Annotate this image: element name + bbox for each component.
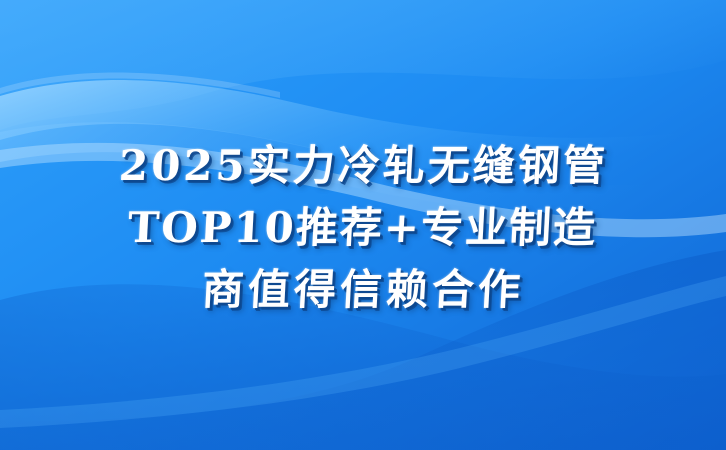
headline-line-1: 2025实力冷轧无缝钢管 xyxy=(117,135,609,197)
headline-line-2: TOP10推荐+专业制造 xyxy=(127,197,599,259)
headline-line-3: 商值得信赖合作 xyxy=(200,259,525,321)
headline-block: 2025实力冷轧无缝钢管 TOP10推荐+专业制造 商值得信赖合作 xyxy=(0,0,726,450)
promo-banner: 2025实力冷轧无缝钢管 TOP10推荐+专业制造 商值得信赖合作 xyxy=(0,0,726,450)
